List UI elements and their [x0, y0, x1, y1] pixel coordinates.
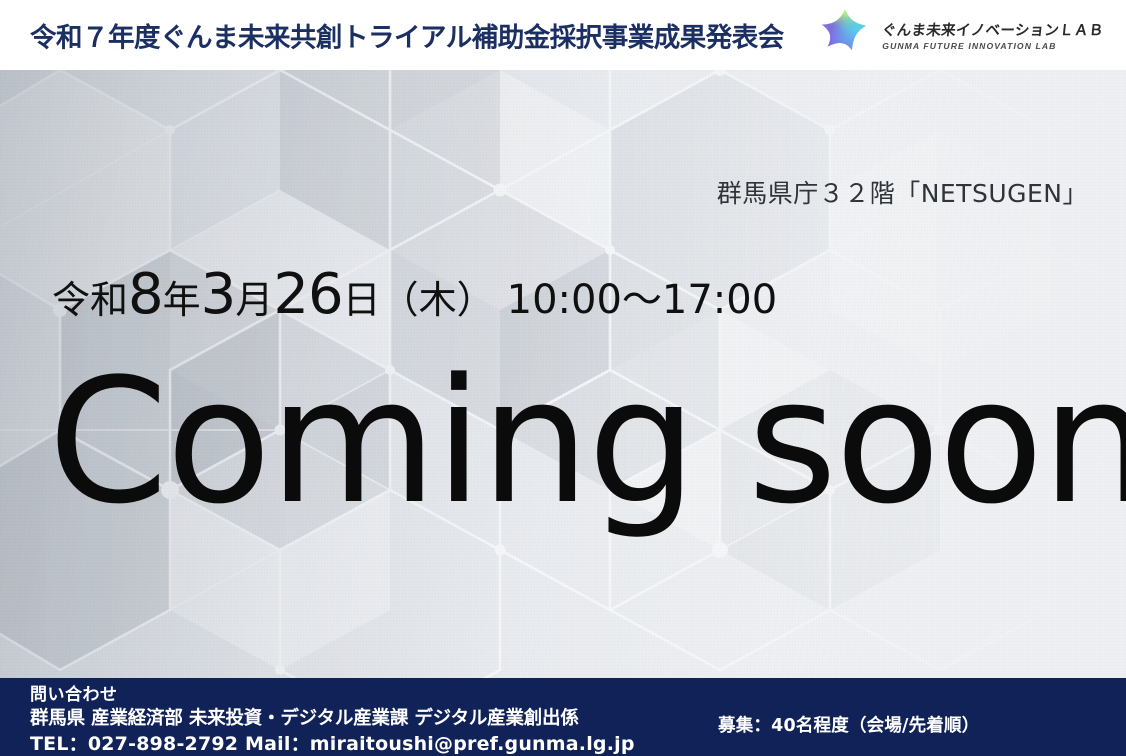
time-range: 10:00〜17:00 — [507, 267, 778, 325]
contact-heading: 問い合わせ — [30, 684, 635, 707]
month-number: 3 — [201, 262, 236, 327]
month-unit: 月 — [235, 269, 273, 324]
logo-text-jp: ぐんま未来イノベーションＬＡＢ — [881, 19, 1105, 40]
year-number: 8 — [128, 262, 163, 327]
era-label: 令和 — [52, 269, 128, 324]
logo-text-en: GUNMA FUTURE INNOVATION LAB — [882, 41, 1104, 51]
poster-body: 群馬県庁３２階「NETSUGEN」 令和 8 年 3 月 26 日 （木） 10… — [0, 70, 1126, 678]
contact-tel-mail: TEL：027-898-2792 Mail：miraitoushi@pref.g… — [30, 732, 635, 756]
logo: ぐんま未来イノベーションＬＡＢ GUNMA FUTURE INNOVATION … — [815, 6, 1104, 64]
contact-block: 問い合わせ 群馬県 産業経済部 未来投資・デジタル産業課 デジタル産業創出係 T… — [30, 684, 635, 756]
day-number: 26 — [273, 262, 342, 327]
poster-header: 令和７年度ぐんま未来共創トライアル補助金採択事業成果発表会 — [0, 0, 1126, 70]
headline-coming-soon: Coming soon! — [48, 356, 1126, 528]
weekday-label: （木） — [381, 269, 495, 324]
event-datetime: 令和 8 年 3 月 26 日 （木） 10:00〜17:00 — [52, 262, 777, 327]
event-poster: 令和７年度ぐんま未来共創トライアル補助金採択事業成果発表会 — [0, 0, 1126, 756]
capacity-note: 募集：40名程度（会場/先着順） — [718, 712, 979, 737]
page-title: 令和７年度ぐんま未来共創トライアル補助金採択事業成果発表会 — [30, 16, 784, 55]
day-unit: 日 — [343, 269, 381, 324]
gunma-future-innovation-lab-logo-icon — [815, 6, 875, 64]
contact-department: 群馬県 産業経済部 未来投資・デジタル産業課 デジタル産業創出係 — [30, 707, 635, 732]
poster-footer: 問い合わせ 群馬県 産業経済部 未来投資・デジタル産業課 デジタル産業創出係 T… — [0, 678, 1126, 756]
venue-text: 群馬県庁３２階「NETSUGEN」 — [717, 174, 1088, 210]
year-unit: 年 — [163, 269, 201, 324]
logo-text: ぐんま未来イノベーションＬＡＢ GUNMA FUTURE INNOVATION … — [882, 19, 1104, 51]
